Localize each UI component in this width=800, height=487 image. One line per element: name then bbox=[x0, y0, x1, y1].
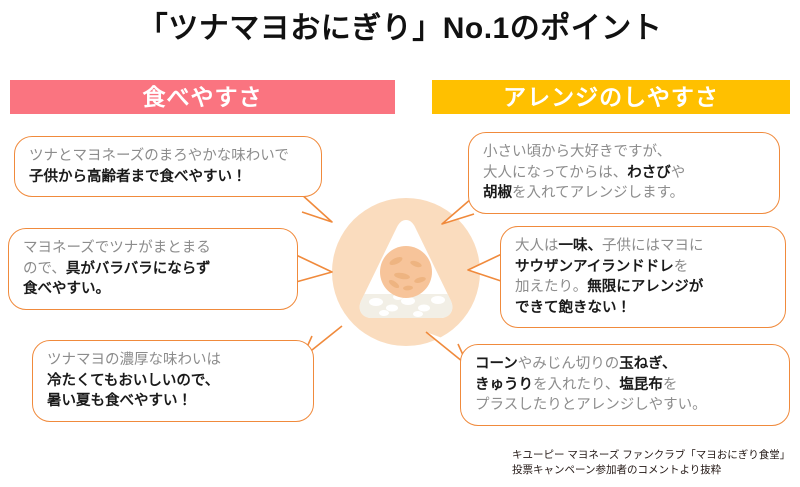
onigiri-illustration bbox=[332, 198, 480, 346]
bubble-text: 小さい頃から大好きですが、 bbox=[483, 144, 671, 160]
bubble-tail-left-2 bbox=[292, 252, 334, 286]
bubble-line: 冷たくてもおいしいので、 bbox=[47, 371, 301, 392]
bubble-emphasis-text: 一味、 bbox=[559, 238, 603, 254]
bubble-line: ので、具がバラバラにならず bbox=[23, 259, 285, 280]
bubble-line: 大人になってからは、わさびや bbox=[483, 163, 767, 184]
bubble-text: ツナマヨの濃厚な味わいは bbox=[47, 352, 221, 368]
bubble-line: 大人は一味、子供にはマヨに bbox=[515, 236, 773, 257]
footnote-line-1: キユーピー マヨネーズ ファンクラブ「マヨおにぎり食堂」 bbox=[512, 448, 796, 463]
bubble-line: コーンやみじん切りの玉ねぎ、 bbox=[475, 354, 777, 375]
bubble-emphasis-text: 塩昆布 bbox=[619, 377, 663, 393]
comment-bubble-right-1: 小さい頃から大好きですが、大人になってからは、わさびや胡椒を入れてアレンジします… bbox=[468, 132, 780, 214]
bubble-text: を入れたり、 bbox=[533, 377, 619, 393]
column-header-right: アレンジのしやすさ bbox=[432, 80, 790, 114]
bubble-line: 小さい頃から大好きですが、 bbox=[483, 142, 767, 163]
column-header-left: 食べやすさ bbox=[10, 80, 395, 114]
bubble-emphasis-text: 暑い夏も食べやすい！ bbox=[47, 393, 192, 409]
bubble-text: 大人は bbox=[515, 238, 559, 254]
bubble-text: を bbox=[674, 259, 689, 275]
bubble-text: 大人になってからは、 bbox=[483, 165, 627, 181]
comment-bubble-left-2: マヨネーズでツナがまとまるので、具がバラバラにならず食べやすい。 bbox=[8, 228, 298, 310]
bubble-emphasis-text: わさび bbox=[627, 165, 671, 181]
bubble-text: 加えたり。 bbox=[515, 279, 587, 295]
bubble-emphasis-text: 玉ねぎ、 bbox=[619, 356, 676, 372]
bubble-emphasis-text: できて飽きない！ bbox=[515, 300, 631, 316]
bubble-emphasis-text: 冷たくてもおいしいので、 bbox=[47, 373, 219, 389]
bubble-text: やみじん切りの bbox=[518, 356, 620, 372]
bubble-text: を bbox=[663, 377, 678, 393]
bubble-text: や bbox=[671, 165, 686, 181]
comment-bubble-right-3: コーンやみじん切りの玉ねぎ、きゅうりを入れたり、塩昆布をプラスしたりとアレンジし… bbox=[460, 344, 790, 426]
bubble-emphasis-text: サウザンアイランドドレ bbox=[515, 259, 674, 275]
bubble-line: 加えたり。無限にアレンジが bbox=[515, 277, 773, 298]
bubble-emphasis-text: きゅうり bbox=[475, 377, 533, 393]
bubble-line: できて飽きない！ bbox=[515, 298, 773, 319]
footnote-line-2: 投票キャンペーン参加者のコメントより抜粋 bbox=[512, 463, 796, 478]
bubble-text: ツナとマヨネーズのまろやかな味わいで bbox=[29, 148, 289, 164]
bubble-emphasis-text: 子供から高齢者まで食べやすい！ bbox=[29, 169, 247, 185]
bubble-line: サウザンアイランドドレを bbox=[515, 257, 773, 278]
bubble-line: 胡椒を入れてアレンジします。 bbox=[483, 183, 767, 204]
bubble-text: プラスしたりとアレンジしやすい。 bbox=[475, 397, 707, 413]
bubble-emphasis-text: 食べやすい。 bbox=[23, 281, 110, 297]
bubble-line: ツナマヨの濃厚な味わいは bbox=[47, 350, 301, 371]
onigiri-rice-shape bbox=[332, 198, 480, 346]
bubble-line: プラスしたりとアレンジしやすい。 bbox=[475, 395, 777, 416]
bubble-emphasis-text: 胡椒 bbox=[483, 185, 512, 201]
bubble-line: 暑い夏も食べやすい！ bbox=[47, 391, 301, 412]
bubble-line: 食べやすい。 bbox=[23, 279, 285, 300]
bubble-text: を入れてアレンジします。 bbox=[512, 185, 684, 201]
comment-bubble-left-3: ツナマヨの濃厚な味わいは冷たくてもおいしいので、暑い夏も食べやすい！ bbox=[32, 340, 314, 422]
bubble-line: 子供から高齢者まで食べやすい！ bbox=[29, 167, 309, 188]
footnote: キユーピー マヨネーズ ファンクラブ「マヨおにぎり食堂」 投票キャンペーン参加者… bbox=[512, 448, 796, 478]
bubble-line: きゅうりを入れたり、塩昆布を bbox=[475, 375, 777, 396]
bubble-emphasis-text: コーン bbox=[475, 356, 518, 372]
bubble-line: ツナとマヨネーズのまろやかな味わいで bbox=[29, 146, 309, 167]
bubble-text: ので、 bbox=[23, 261, 66, 277]
bubble-text: マヨネーズでツナがまとまる bbox=[23, 240, 211, 256]
page-title: 「ツナマヨおにぎり」No.1のポイント bbox=[0, 12, 800, 45]
bubble-line: マヨネーズでツナがまとまる bbox=[23, 238, 285, 259]
bubble-emphasis-text: 無限にアレンジが bbox=[587, 279, 703, 295]
bubble-text: 子供にはマヨに bbox=[602, 238, 704, 254]
comment-bubble-left-1: ツナとマヨネーズのまろやかな味わいで子供から高齢者まで食べやすい！ bbox=[14, 136, 322, 197]
bubble-emphasis-text: 具がバラバラにならず bbox=[66, 261, 211, 277]
comment-bubble-right-2: 大人は一味、子供にはマヨにサウザンアイランドドレを加えたり。無限にアレンジができ… bbox=[500, 226, 786, 328]
